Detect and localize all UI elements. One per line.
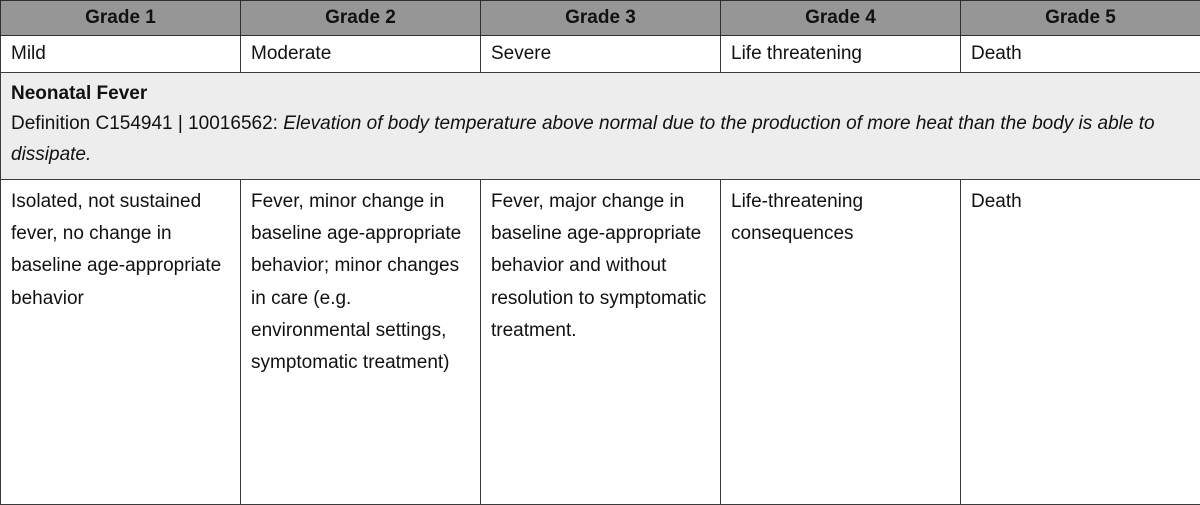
- grade-2-description: Fever, minor change in baseline age-appr…: [241, 179, 481, 504]
- definition-code-label: Definition C154941 | 10016562:: [11, 113, 278, 134]
- grade-description-row: Isolated, not sustained fever, no change…: [1, 179, 1200, 504]
- column-header-grade-3: Grade 3: [481, 1, 721, 36]
- severity-grade-4: Life threatening: [721, 35, 961, 72]
- grade-4-description: Life-threatening consequences: [721, 179, 961, 504]
- grade-1-description: Isolated, not sustained fever, no change…: [1, 179, 241, 504]
- grade-3-description-text: Fever, major change in baseline age-appr…: [491, 186, 712, 347]
- grade-3-description: Fever, major change in baseline age-appr…: [481, 179, 721, 504]
- grade-5-description: Death: [961, 179, 1200, 504]
- severity-descriptor-row: Mild Moderate Severe Life threatening De…: [1, 35, 1200, 72]
- grade-4-description-text: Life-threatening consequences: [731, 186, 952, 251]
- adverse-event-term: Neonatal Fever: [11, 79, 1188, 110]
- grade-1-description-text: Isolated, not sustained fever, no change…: [11, 186, 232, 315]
- grade-5-description-text: Death: [971, 186, 1192, 218]
- grade-2-description-text: Fever, minor change in baseline age-appr…: [251, 186, 472, 380]
- column-header-grade-4: Grade 4: [721, 1, 961, 36]
- definition-body: Definition C154941 | 10016562: Elevation…: [11, 109, 1188, 171]
- severity-grade-1: Mild: [1, 35, 241, 72]
- severity-grade-5: Death: [961, 35, 1200, 72]
- column-header-grade-1: Grade 1: [1, 1, 241, 36]
- column-header-grade-2: Grade 2: [241, 1, 481, 36]
- column-header-grade-5: Grade 5: [961, 1, 1200, 36]
- severity-grade-3: Severe: [481, 35, 721, 72]
- definition-cell: Neonatal Fever Definition C154941 | 1001…: [1, 72, 1200, 179]
- ctcae-grading-table: Grade 1 Grade 2 Grade 3 Grade 4 Grade 5 …: [0, 0, 1200, 505]
- definition-banner-row: Neonatal Fever Definition C154941 | 1001…: [1, 72, 1200, 179]
- severity-grade-2: Moderate: [241, 35, 481, 72]
- table-header-row: Grade 1 Grade 2 Grade 3 Grade 4 Grade 5: [1, 1, 1200, 36]
